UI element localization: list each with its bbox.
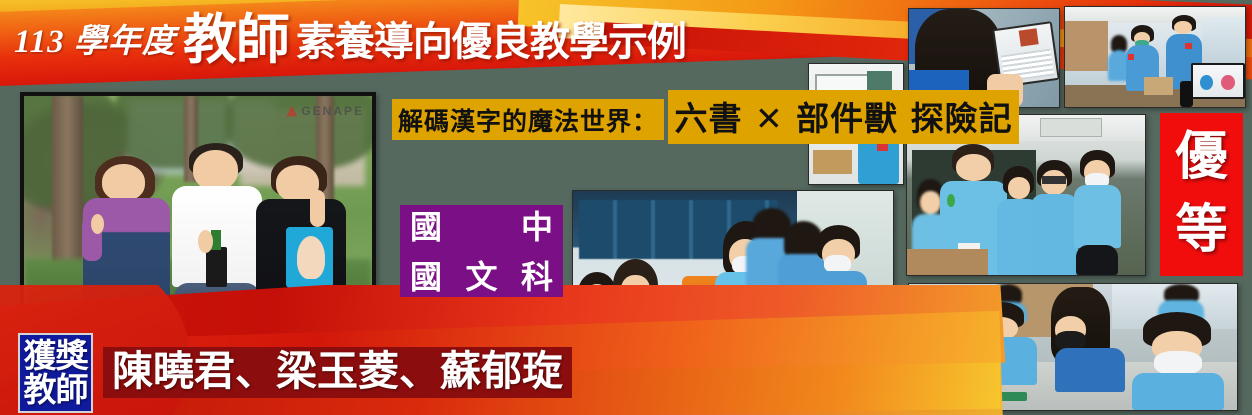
orange-chair: [637, 366, 720, 404]
grade-char-deng: 等: [1175, 204, 1227, 256]
bookshelf: [1065, 21, 1108, 71]
person-left: [80, 156, 174, 310]
uniform-logo: [1128, 54, 1134, 60]
face: [102, 164, 145, 201]
student: [1031, 160, 1079, 275]
uniform: [1031, 194, 1079, 275]
word-card: [942, 395, 968, 403]
genape-watermark: GENAPE: [286, 104, 364, 118]
subtitle-block: 解碼漢字的魔法世界： 六書 ✕ 部件獸 探險記: [392, 88, 1019, 144]
face-mask: [623, 288, 646, 306]
grade-char-you: 優: [1175, 131, 1227, 183]
subtitle-line-1: 解碼漢字的魔法世界：: [392, 99, 664, 140]
air-conditioner: [1040, 118, 1102, 137]
student: [1047, 287, 1126, 393]
raised-hand: [310, 190, 325, 227]
uniform: [912, 355, 964, 382]
screen-icon-pink: [1221, 75, 1235, 90]
grade-badge: 優 等: [1160, 113, 1243, 276]
teacher-names-text: 陳曉君、梁玉菱、蘇郁琁: [112, 351, 563, 392]
student: [1074, 150, 1122, 275]
shorts: [1076, 245, 1118, 275]
student: [965, 302, 1037, 385]
subtitle-line-2: 六書 ✕ 部件獸 探險記: [668, 90, 1018, 144]
face: [956, 154, 991, 180]
trophy: [206, 247, 227, 287]
uniform: [1132, 373, 1224, 410]
student: [1132, 312, 1224, 410]
title-year-label: 113 學年度: [14, 14, 176, 65]
teachers-group-photo: GENAPE: [20, 92, 376, 314]
jeans: [174, 283, 260, 310]
page-title: 113 學年度 教師 素養導向優良教學示例: [14, 14, 686, 65]
title-rest-label: 素養導向優良教學示例: [296, 21, 686, 65]
subject-badge-row-2: 國 文 科: [410, 261, 553, 293]
face: [1174, 21, 1192, 34]
library-activity-photo: [1064, 6, 1246, 108]
classroom-groupwork-photo: [572, 190, 894, 405]
subject-char-guo2: 國: [410, 261, 442, 293]
tree-trunk: [52, 96, 83, 271]
screen-icon-blue: [1200, 75, 1213, 90]
cardboard-box: [1144, 77, 1173, 95]
subject-char-ke: 科: [521, 261, 553, 293]
computer-monitor: [1191, 63, 1245, 99]
poster-root: 113 學年度 教師 素養導向優良教學示例: [0, 0, 1252, 415]
subject-char-guo: 國: [410, 211, 442, 243]
eyeglasses: [1042, 176, 1066, 184]
award-teacher-badge: 獲獎 教師: [18, 333, 93, 413]
students-handson-table-photo: [908, 283, 1238, 411]
student: [912, 312, 964, 383]
screen-image: [1019, 28, 1039, 47]
person-center: [170, 143, 264, 310]
face: [1008, 177, 1030, 199]
title-main-label: 教師: [183, 14, 289, 65]
microphone: [1180, 81, 1193, 107]
uniform-badge: [947, 194, 955, 207]
cardboard-box: [907, 249, 988, 275]
face: [920, 191, 941, 214]
face-mask: [1154, 351, 1202, 375]
uniform: [695, 329, 753, 361]
uniform: [608, 310, 662, 370]
genape-watermark-text: GENAPE: [301, 104, 364, 118]
subject-char-wen: 文: [465, 261, 497, 293]
uniform: [965, 337, 1037, 385]
subject-badge: 國 中 國 文 科: [400, 205, 563, 297]
award-badge-line-2: 教師: [24, 373, 88, 407]
game-piece: [988, 392, 1027, 401]
uniform: [1074, 185, 1122, 247]
wooden-desk: [813, 150, 852, 174]
genape-logo-icon: [286, 106, 297, 117]
person-right: [254, 156, 348, 310]
uniform-logo: [1185, 43, 1193, 49]
jacket: [835, 310, 886, 395]
monitor-screen: [1193, 65, 1243, 97]
backpack: [765, 315, 816, 387]
uniform: [1055, 348, 1126, 392]
face: [193, 150, 238, 190]
award-badge-line-1: 獲獎: [24, 339, 88, 373]
subject-char-zhong: 中: [521, 211, 553, 243]
subject-badge-row-1: 國 中: [410, 211, 553, 243]
student: [608, 259, 662, 370]
teacher-names-bar: 陳曉君、梁玉菱、蘇郁琁: [103, 347, 572, 398]
uniform-logo: [971, 347, 983, 355]
student: [695, 285, 753, 362]
tshirt-graphic-face: [297, 236, 325, 279]
